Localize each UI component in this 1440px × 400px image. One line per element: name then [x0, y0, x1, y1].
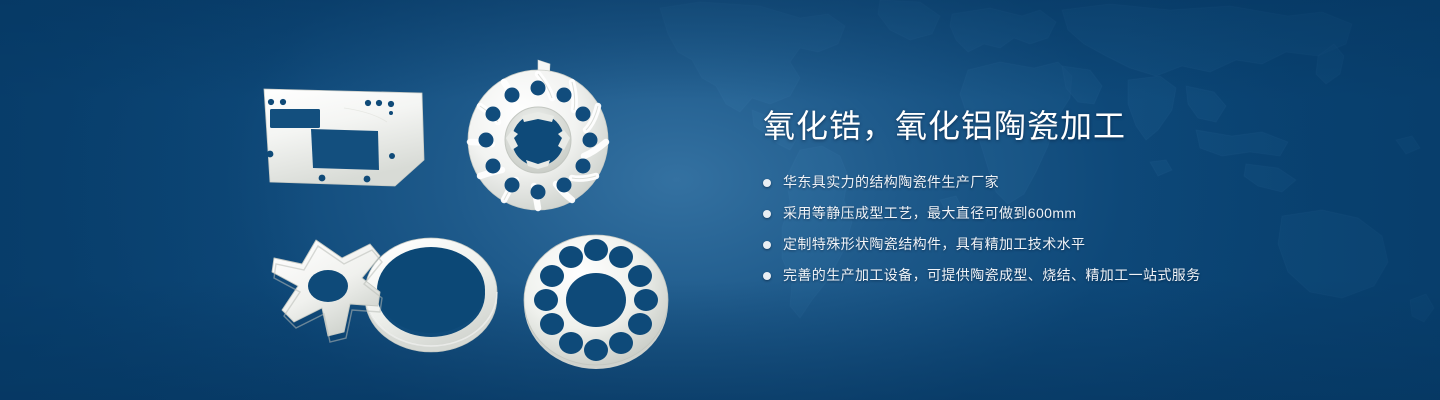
list-item-label: 华东具实力的结构陶瓷件生产厂家	[783, 172, 999, 193]
banner-copy: 氧化锆，氧化铝陶瓷加工 华东具实力的结构陶瓷件生产厂家 采用等静压成型工艺，最大…	[763, 104, 1363, 286]
list-item: 完善的生产加工设备，可提供陶瓷成型、烧结、精加工一站式服务	[763, 265, 1363, 286]
ceramic-hole-disc	[516, 228, 676, 372]
ceramic-plate-with-cutouts	[252, 82, 432, 194]
hero-banner: 氧化锆，氧化铝陶瓷加工 华东具实力的结构陶瓷件生产厂家 采用等静压成型工艺，最大…	[0, 0, 1440, 400]
bullet-dot-icon	[763, 241, 771, 249]
list-item-label: 采用等静压成型工艺，最大直径可做到600mm	[783, 203, 1076, 224]
feature-list: 华东具实力的结构陶瓷件生产厂家 采用等静压成型工艺，最大直径可做到600mm 定…	[763, 172, 1363, 286]
list-item-label: 完善的生产加工设备，可提供陶瓷成型、烧结、精加工一站式服务	[783, 265, 1201, 286]
bullet-dot-icon	[763, 179, 771, 187]
list-item-label: 定制特殊形状陶瓷结构件，具有精加工技术水平	[783, 234, 1085, 255]
product-image-group	[0, 0, 720, 400]
list-item: 华东具实力的结构陶瓷件生产厂家	[763, 172, 1363, 193]
bullet-dot-icon	[763, 272, 771, 280]
list-item: 定制特殊形状陶瓷结构件，具有精加工技术水平	[763, 234, 1363, 255]
list-item: 采用等静压成型工艺，最大直径可做到600mm	[763, 203, 1363, 224]
ceramic-impeller-disc	[452, 52, 624, 224]
ceramic-cross-plate	[258, 236, 418, 360]
page-title: 氧化锆，氧化铝陶瓷加工	[763, 104, 1363, 148]
bullet-dot-icon	[763, 210, 771, 218]
